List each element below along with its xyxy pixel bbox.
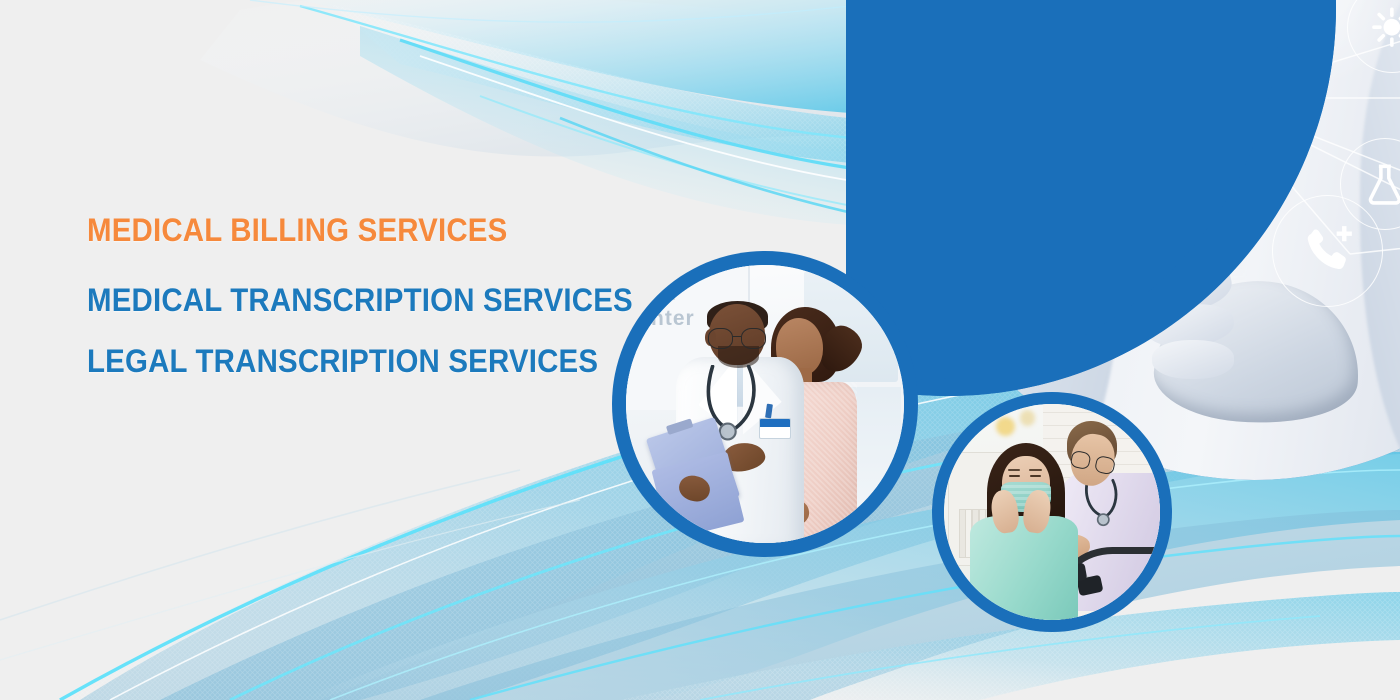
- headline-list: MEDICAL BILLING SERVICES MEDICAL TRANSCR…: [87, 214, 707, 379]
- photo-circle-masked-patient-comfort: [932, 392, 1172, 632]
- service-banner: MEDICAL BILLING SERVICES MEDICAL TRANSCR…: [0, 0, 1400, 700]
- eyeglasses: [707, 328, 768, 347]
- headline-legal-transcription: LEGAL TRANSCRIPTION SERVICES: [87, 345, 657, 379]
- syringe-icon: [946, 74, 1030, 159]
- photo-circle-inner: [944, 404, 1160, 620]
- headline-medical-billing: MEDICAL BILLING SERVICES: [87, 214, 657, 248]
- patient-scrubs: [970, 516, 1078, 620]
- eye-icon: [980, 209, 1074, 304]
- doctor-id-badge: [759, 418, 790, 439]
- dna-icon: [1136, 195, 1237, 297]
- scene-masked-patient: [944, 404, 1160, 620]
- ambulance-icon: [1014, 0, 1104, 88]
- doctor-stethoscope: [1078, 477, 1134, 533]
- headline-medical-transcription: MEDICAL TRANSCRIPTION SERVICES: [87, 284, 657, 318]
- phone-plus-icon: [1272, 195, 1383, 307]
- security-shield-icon: [1169, 15, 1257, 133]
